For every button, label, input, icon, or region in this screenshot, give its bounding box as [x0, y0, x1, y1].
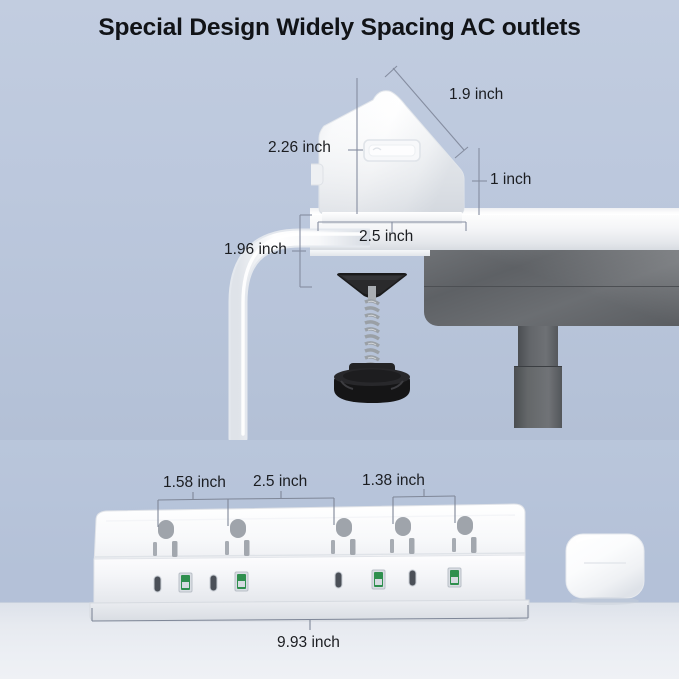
infographic-canvas: Special Design Widely Spacing AC outlets: [0, 0, 679, 679]
dimension-9-93-inch: 9.93 inch: [277, 634, 340, 652]
dimension-1-inch: 1 inch: [490, 171, 531, 189]
dimension-1-96-inch: 1.96 inch: [224, 241, 287, 259]
dimension-2-26-inch: 2.26 inch: [268, 139, 331, 157]
dimension-2-5-inch-depth: 2.5 inch: [359, 228, 413, 246]
earbuds-case-scale-object: [562, 530, 650, 608]
power-strip: [84, 500, 534, 625]
desk-leg-lower: [514, 366, 562, 428]
dimension-1-9-inch: 1.9 inch: [449, 86, 503, 104]
page-title: Special Design Widely Spacing AC outlets: [0, 14, 679, 42]
dimension-1-58-inch: 1.58 inch: [163, 474, 226, 492]
dimension-1-38-inch: 1.38 inch: [362, 472, 425, 490]
desk-underside-shadow-line: [424, 286, 679, 287]
dimension-2-5-inch-spacing: 2.5 inch: [253, 473, 307, 491]
desk-leg-upper: [518, 326, 558, 366]
power-cable: [130, 150, 370, 440]
desk-underside: [424, 250, 679, 326]
